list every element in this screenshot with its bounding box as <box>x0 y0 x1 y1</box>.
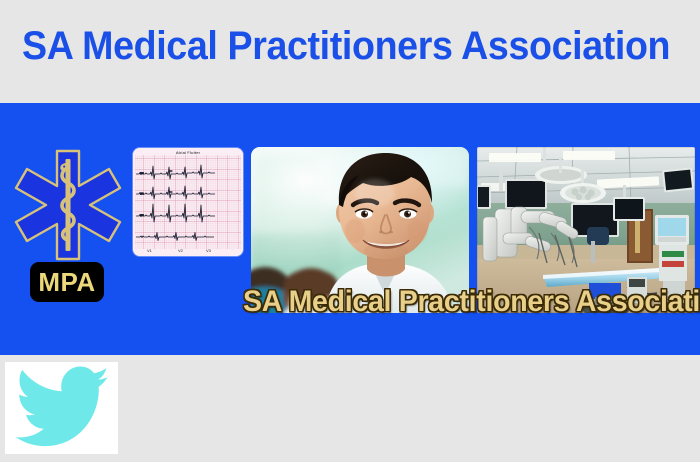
footer-band: Our Twitter Page <box>0 355 700 462</box>
ecg-lead-label-v1: V1 <box>147 248 152 253</box>
ecg-lead-label-v2: V2 <box>178 248 183 253</box>
ecg-lead-labels: V1 V2 V3 <box>133 248 243 255</box>
hero-banner: MPA <box>0 103 700 355</box>
ecg-caption: Atrial Flutter <box>133 150 243 155</box>
mpa-badge-label: MPA <box>38 269 95 295</box>
page-root: SA Medical Practitioners Association <box>0 0 700 462</box>
association-logo[interactable]: MPA <box>9 145 127 315</box>
ecg-strip-image: Atrial Flutter V1 V2 V3 <box>133 148 243 256</box>
page-title: SA Medical Practitioners Association <box>22 22 670 70</box>
twitter-bird-icon <box>5 362 118 454</box>
ecg-lead-label-v3: V3 <box>206 248 211 253</box>
star-of-life-icon <box>9 145 127 263</box>
mpa-badge: MPA <box>30 262 104 302</box>
ecg-grid-graphic <box>133 148 243 256</box>
banner-overlay-title: SA Medical Practitioners Association <box>243 285 690 319</box>
header-band: SA Medical Practitioners Association <box>0 0 700 103</box>
twitter-link[interactable] <box>5 362 118 454</box>
